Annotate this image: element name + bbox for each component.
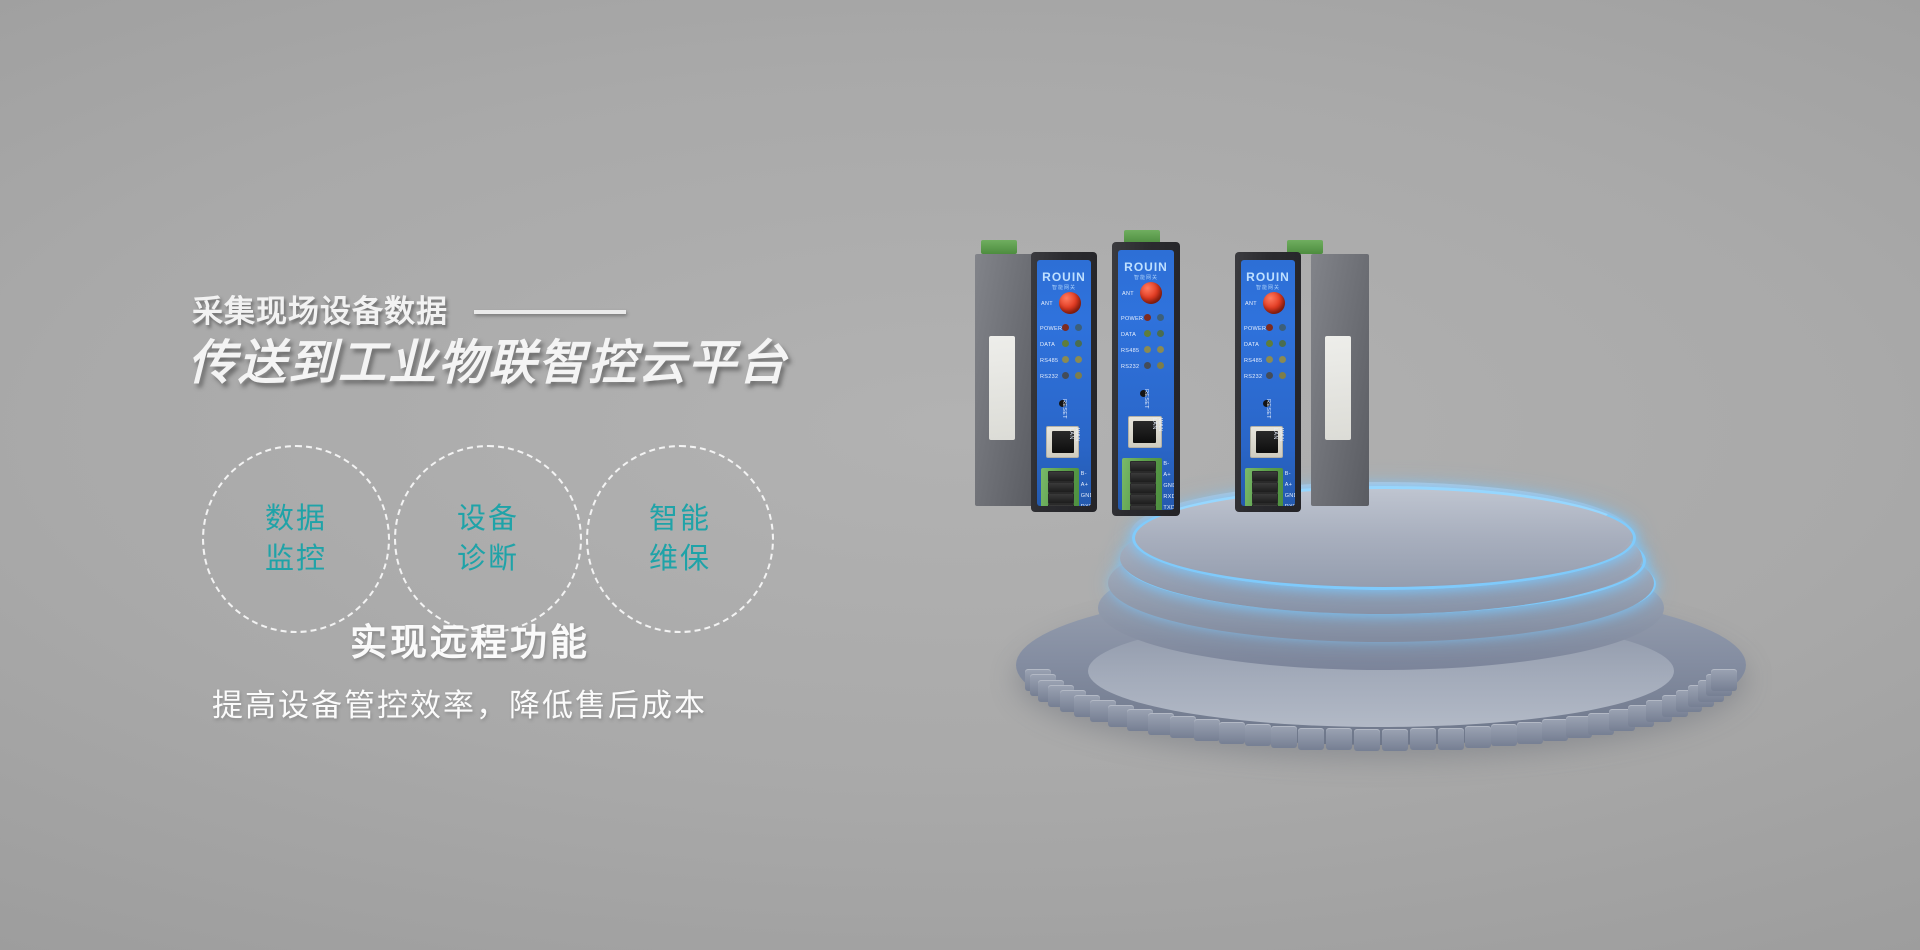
status-led	[1062, 324, 1069, 331]
status-led	[1157, 362, 1164, 369]
pedestal-tooth	[1326, 728, 1352, 750]
status-led	[1279, 324, 1286, 331]
feature-circle-line2: 监控	[265, 539, 327, 579]
terminal-label-a: A+	[1163, 472, 1170, 478]
status-led	[1075, 340, 1082, 347]
terminal-screw	[1048, 504, 1073, 506]
terminal-screw	[1252, 482, 1277, 493]
terminal-screw	[1252, 471, 1277, 482]
terminal-screw	[1130, 472, 1156, 483]
feature-circle-line2: 诊断	[457, 539, 519, 579]
pedestal-glow-ring-1	[1132, 486, 1636, 590]
antenna-connector-cap[interactable]	[1059, 292, 1081, 314]
pedestal-tooth	[1438, 728, 1464, 750]
terminal-label-gnd: GND	[1081, 493, 1091, 499]
status-label-rs232: RS232	[1040, 374, 1058, 380]
kicker-rule-divider	[474, 310, 626, 314]
feature-circle-line1: 智能	[649, 499, 711, 539]
status-led	[1062, 372, 1069, 379]
subtitle-heading: 实现远程功能	[350, 612, 590, 666]
terminal-label-gnd: GND	[1163, 483, 1174, 489]
feature-circle-device-diagnosis[interactable]: 设备 诊断	[394, 445, 582, 633]
gateway-device-3[interactable]: ROUIN智能网关ANTPOWERDATARS485RS232RESETWAN …	[1233, 240, 1361, 512]
brand-sub-label: 智能网关	[1037, 284, 1091, 291]
pedestal-tooth	[1382, 729, 1408, 751]
terminal-screw	[1130, 505, 1156, 510]
pedestal-tooth	[1298, 728, 1324, 750]
status-led	[1266, 372, 1273, 379]
ant-label: ANT	[1041, 301, 1053, 307]
status-led	[1157, 330, 1164, 337]
status-label-power: POWER	[1040, 326, 1062, 332]
status-led	[1144, 314, 1151, 321]
status-led	[1062, 356, 1069, 363]
screw-terminal-block[interactable]	[1245, 468, 1283, 506]
gateway-device-2[interactable]: ROUIN智能网关ANTPOWERDATARS485RS232RESETWAN …	[1110, 230, 1182, 516]
status-led	[1266, 340, 1273, 347]
feature-circle-data-monitoring[interactable]: 数据 监控	[202, 445, 390, 633]
status-led	[1075, 356, 1082, 363]
status-label-data: DATA	[1040, 342, 1055, 348]
reset-label: RESET	[1265, 399, 1271, 419]
pedestal-tooth	[1271, 726, 1297, 748]
screw-terminal-block[interactable]	[1041, 468, 1079, 506]
kicker-text: 采集现场设备数据	[192, 296, 448, 327]
terminal-label-b: B-	[1285, 471, 1291, 477]
pedestal-tooth	[1491, 724, 1517, 746]
ant-label: ANT	[1122, 291, 1134, 297]
status-label-power: POWER	[1121, 316, 1143, 322]
terminal-screw	[1130, 461, 1156, 472]
status-label-rs232: RS232	[1244, 374, 1262, 380]
device-label-sticker	[989, 336, 1015, 440]
device-label-sticker	[1325, 336, 1351, 440]
feature-circle-smart-maintenance[interactable]: 智能 维保	[586, 445, 774, 633]
status-led	[1266, 324, 1273, 331]
pedestal-tooth	[1170, 716, 1196, 738]
terminal-label-b: B-	[1081, 471, 1087, 477]
status-led	[1266, 356, 1273, 363]
terminal-screw	[1130, 483, 1156, 494]
device-front-panel[interactable]: ROUIN智能网关ANTPOWERDATARS485RS232RESETWAN …	[1241, 260, 1295, 506]
pedestal-tooth	[1194, 719, 1220, 741]
terminal-label-rxd: RXD	[1081, 504, 1091, 506]
wan-lan-label: WAN LAN	[1068, 428, 1080, 442]
feature-circle-line2: 维保	[649, 539, 711, 579]
pedestal-tooth	[1711, 669, 1737, 691]
status-label-data: DATA	[1121, 332, 1136, 338]
pedestal-tooth	[1245, 724, 1271, 746]
gateway-device-1[interactable]: ROUIN智能网关ANTPOWERDATARS485RS232RESETWAN …	[975, 240, 1103, 512]
product-scene: ROUIN智能网关ANTPOWERDATARS485RS232RESETWAN …	[980, 230, 1780, 750]
status-led	[1279, 356, 1286, 363]
status-led	[1157, 314, 1164, 321]
terminal-screw	[1130, 494, 1156, 505]
terminal-screw	[1252, 504, 1277, 506]
antenna-connector-cap[interactable]	[1263, 292, 1285, 314]
status-led	[1062, 340, 1069, 347]
status-label-power: POWER	[1244, 326, 1266, 332]
terminal-screw	[1048, 493, 1073, 504]
status-label-rs485: RS485	[1121, 348, 1139, 354]
status-led	[1279, 340, 1286, 347]
device-front-panel[interactable]: ROUIN智能网关ANTPOWERDATARS485RS232RESETWAN …	[1037, 260, 1091, 506]
status-label-data: DATA	[1244, 342, 1259, 348]
brand-logo: ROUIN智能网关	[1241, 270, 1295, 291]
wan-lan-label: WAN LAN	[1272, 428, 1284, 442]
feature-circle-group: 数据 监控 设备 诊断 智能 维保	[202, 445, 774, 633]
status-label-rs232: RS232	[1121, 364, 1139, 370]
pedestal-tooth	[1410, 728, 1436, 750]
terminal-label-b: B-	[1163, 461, 1169, 467]
feature-circle-line1: 数据	[265, 499, 327, 539]
terminal-label-a: A+	[1081, 482, 1088, 488]
left-text-block: 采集现场设备数据 传送到工业物联智控云平台 数据 监控 设备 诊断 智能 维保 …	[0, 0, 900, 950]
terminal-label-a: A+	[1285, 482, 1292, 488]
reset-label: RESET	[1061, 399, 1067, 419]
status-label-rs485: RS485	[1244, 358, 1262, 364]
kicker-row: 采集现场设备数据	[192, 296, 626, 327]
pedestal-tooth	[1354, 729, 1380, 751]
terminal-screw	[1048, 482, 1073, 493]
feature-circle-line1: 设备	[457, 499, 519, 539]
terminal-label-rxd: RXD	[1285, 504, 1295, 506]
wan-lan-label: WAN LAN	[1151, 418, 1163, 432]
reset-label: RESET	[1143, 389, 1149, 409]
antenna-connector-cap[interactable]	[1140, 282, 1162, 304]
terminal-screw	[1252, 493, 1277, 504]
subtitle-description: 提高设备管控效率，降低售后成本	[212, 680, 707, 725]
pedestal-tooth	[1517, 722, 1543, 744]
hero-banner: 采集现场设备数据 传送到工业物联智控云平台 数据 监控 设备 诊断 智能 维保 …	[0, 0, 1920, 950]
terminal-label-txd: TXD	[1163, 505, 1174, 510]
status-led	[1075, 372, 1082, 379]
status-led	[1144, 346, 1151, 353]
ant-label: ANT	[1245, 301, 1257, 307]
status-label-rs485: RS485	[1040, 358, 1058, 364]
status-led	[1157, 346, 1164, 353]
brand-sub-label: 智能网关	[1118, 274, 1174, 281]
screw-terminal-block[interactable]	[1122, 458, 1161, 510]
page-title: 传送到工业物联智控云平台	[188, 338, 788, 391]
device-front-panel[interactable]: ROUIN智能网关ANTPOWERDATARS485RS232RESETWAN …	[1118, 250, 1174, 510]
pedestal-tooth	[1542, 719, 1568, 741]
terminal-label-gnd: GND	[1285, 493, 1295, 499]
status-led	[1144, 362, 1151, 369]
terminal-label-rxd: RXD	[1163, 494, 1174, 500]
status-led	[1075, 324, 1082, 331]
status-led	[1279, 372, 1286, 379]
brand-logo: ROUIN智能网关	[1118, 260, 1174, 281]
pedestal-tooth	[1465, 726, 1491, 748]
brand-sub-label: 智能网关	[1241, 284, 1295, 291]
pedestal-tooth	[1219, 722, 1245, 744]
brand-logo: ROUIN智能网关	[1037, 270, 1091, 291]
terminal-screw	[1048, 471, 1073, 482]
status-led	[1144, 330, 1151, 337]
terminal-block-top	[981, 240, 1017, 254]
